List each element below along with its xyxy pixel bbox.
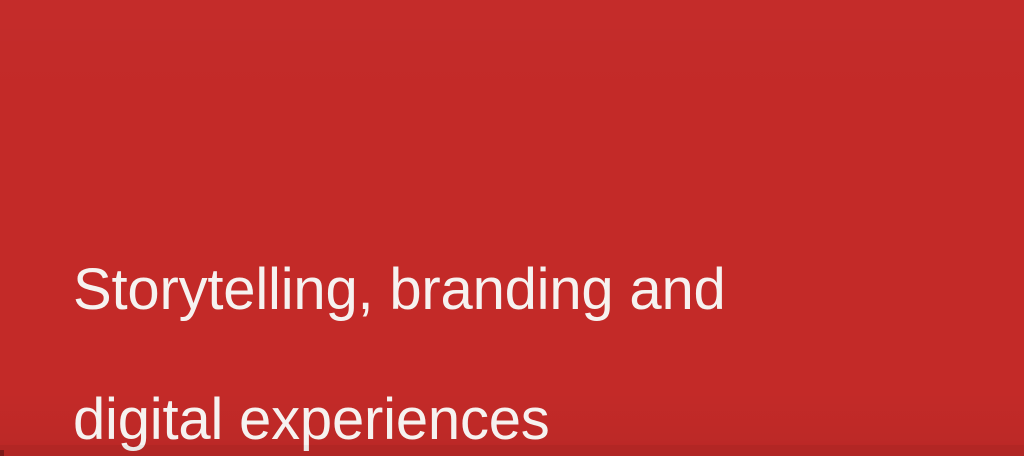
page-title: Storytelling, branding and digital exper…: [73, 192, 953, 456]
slide-canvas: Storytelling, branding and digital exper…: [0, 0, 1024, 456]
headline-line-1: Storytelling, branding and: [73, 257, 953, 322]
headline-line-2: digital experiences: [73, 387, 953, 452]
bottom-left-corner-notch: [0, 450, 4, 456]
